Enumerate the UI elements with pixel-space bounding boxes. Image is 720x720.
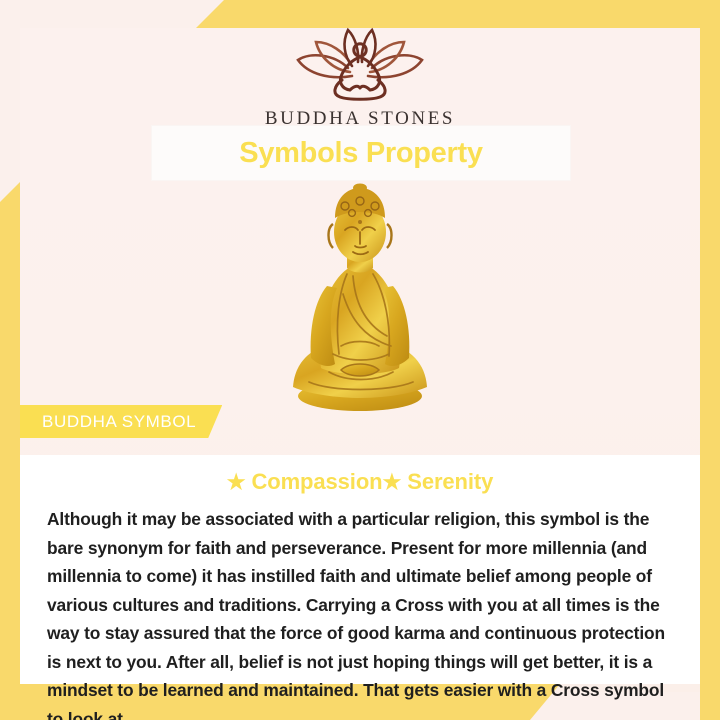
star-icon-one: ★ [227,471,246,494]
buddha-symbol-ribbon: BUDDHA SYMBOL [20,405,222,438]
attribute-compassion: Compassion [251,469,382,494]
lotus-meditation-icon [280,24,440,102]
content-panel: ★ Compassion★ Serenity Although it may b… [20,455,700,684]
poster-root: BUDDHA STONES Symbols Property [0,0,720,720]
ribbon-label: BUDDHA SYMBOL [42,412,196,432]
star-icon-two: ★ [383,471,402,494]
page-title: Symbols Property [239,137,482,170]
title-banner: Symbols Property [152,126,570,180]
attribute-serenity: Serenity [407,469,493,494]
brand-header: BUDDHA STONES [0,24,720,130]
buddha-statue-illustration [0,182,720,412]
golden-buddha-statue-icon [269,182,451,412]
description-paragraph: Although it may be associated with a par… [20,495,700,720]
attributes-subtitle: ★ Compassion★ Serenity [20,455,700,495]
